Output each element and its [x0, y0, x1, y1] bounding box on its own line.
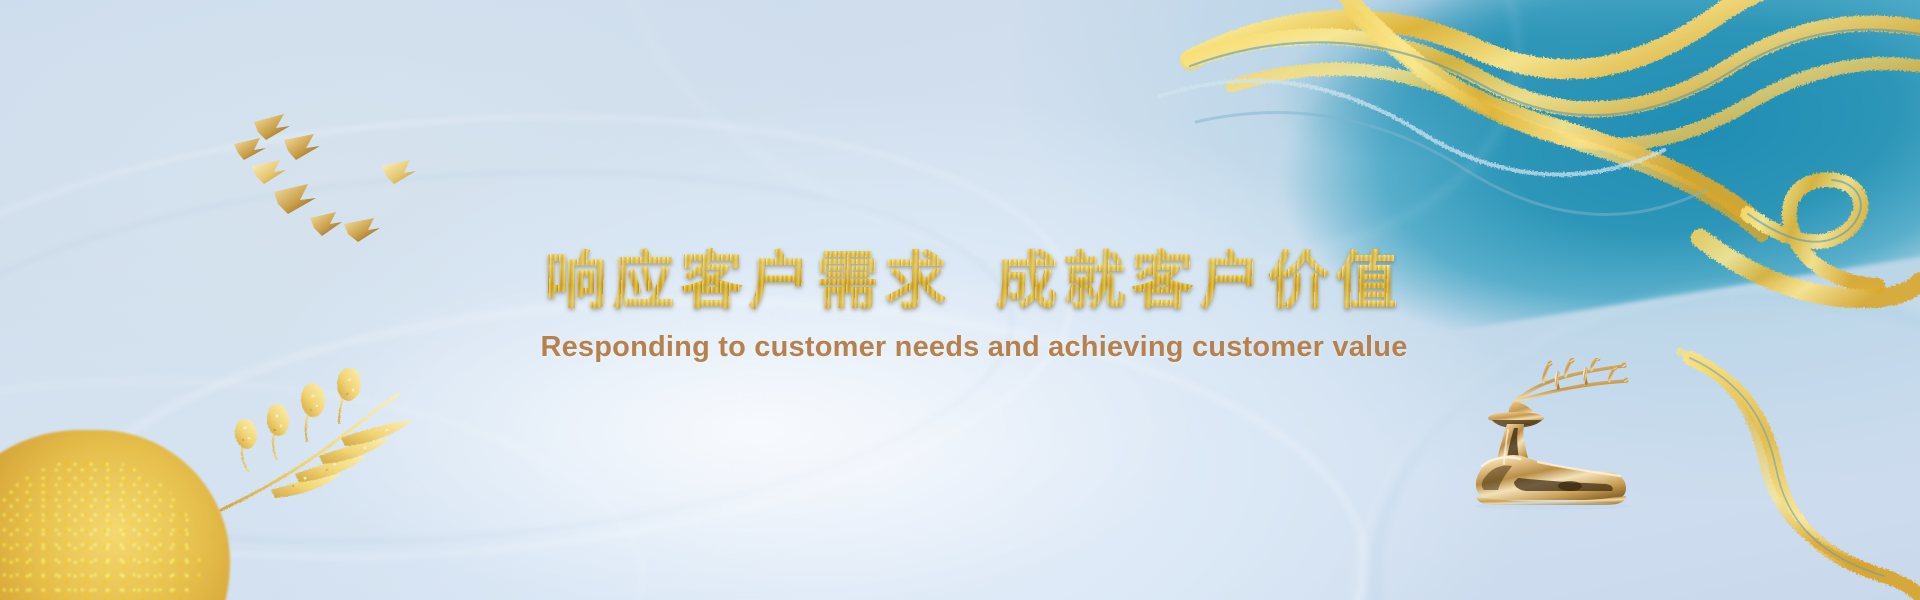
gold-deer-sculpture-icon: [1452, 358, 1657, 513]
banner-text-block: 响应客户需求 成就客户价值 Responding to customer nee…: [0, 248, 1920, 364]
gold-leaf-sprig-icon: [215, 368, 430, 518]
bird-flock-icon: [232, 96, 442, 246]
hero-banner: 响应客户需求 成就客户价值 Responding to customer nee…: [0, 0, 1920, 600]
page-subtitle: Responding to customer needs and achievi…: [28, 331, 1920, 364]
page-title: 响应客户需求 成就客户价值: [28, 248, 1920, 317]
